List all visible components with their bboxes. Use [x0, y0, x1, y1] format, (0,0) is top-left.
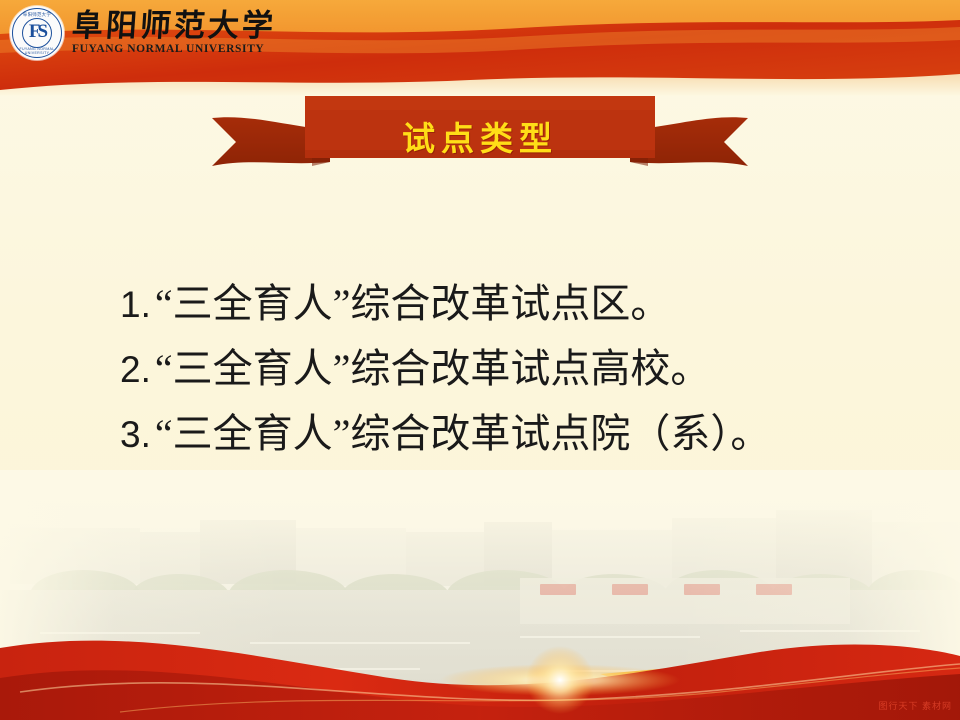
list-item: 3. “三全育人”综合改革试点院（系）。 — [120, 402, 900, 467]
seal-arc-bottom: FUYANG NORMAL UNIVERSITY — [10, 47, 64, 55]
list-item-text: “三全育人”综合改革试点院（系）。 — [155, 402, 771, 467]
university-seal-icon: 阜阳师范大学 FS FUYANG NORMAL UNIVERSITY — [10, 6, 64, 60]
list-item-number: 1. — [120, 275, 151, 335]
brand-names: 阜阳师范大学 FUYANG NORMAL UNIVERSITY — [72, 10, 276, 56]
brand-lockup: 阜阳师范大学 FS FUYANG NORMAL UNIVERSITY 阜阳师范大… — [10, 6, 276, 60]
bottom-red-wave — [0, 600, 960, 720]
university-name-cn: 阜阳师范大学 — [71, 10, 277, 41]
list-item-number: 3. — [120, 405, 151, 465]
list-item-text: “三全育人”综合改革试点高校。 — [155, 337, 711, 402]
title-ribbon: 试点类型 — [0, 96, 960, 186]
list-item: 2. “三全育人”综合改革试点高校。 — [120, 337, 900, 402]
list-item-text: “三全育人”综合改革试点区。 — [155, 272, 671, 337]
list-item-number: 2. — [120, 340, 151, 400]
slide-header: 阜阳师范大学 FS FUYANG NORMAL UNIVERSITY 阜阳师范大… — [0, 0, 960, 96]
list-item: 1. “三全育人”综合改革试点区。 — [120, 272, 900, 337]
slide-root: 阜阳师范大学 FS FUYANG NORMAL UNIVERSITY 阜阳师范大… — [0, 0, 960, 720]
corner-watermark: 图行天下 素材网 — [878, 699, 952, 712]
university-name-en: FUYANG NORMAL UNIVERSITY — [72, 44, 276, 56]
content-list: 1. “三全育人”综合改革试点区。 2. “三全育人”综合改革试点高校。 3. … — [120, 272, 900, 466]
